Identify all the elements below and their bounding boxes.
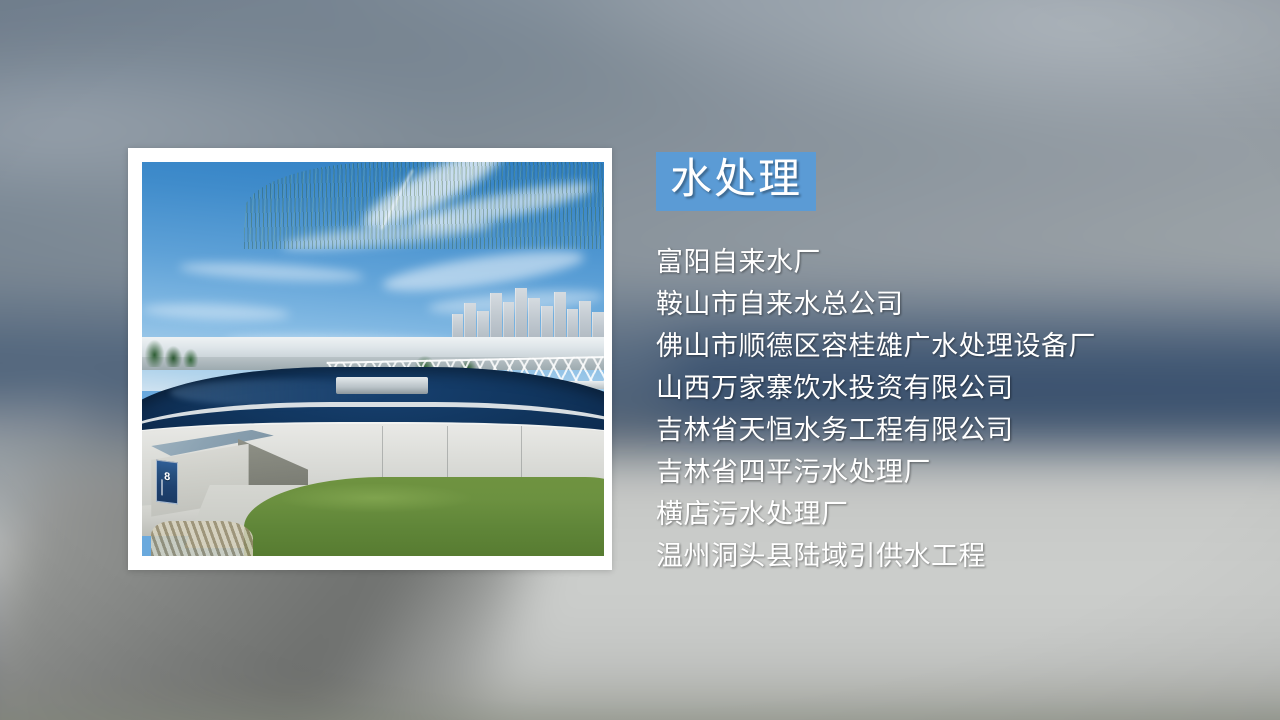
photo-sign-plate: 8 — [156, 460, 178, 505]
photo-grass-highlight — [282, 484, 515, 519]
photo-sign-number: 8 — [157, 471, 177, 485]
photo-treeline-left — [142, 327, 299, 366]
photo-drain-grate — [151, 521, 253, 556]
list-item: 富阳自来水厂 — [656, 241, 1256, 283]
photo-grass — [244, 477, 604, 556]
photo-image: 8 — [142, 162, 604, 556]
photo-basin-platform — [336, 377, 428, 395]
list-item: 佛山市顺德区容桂雄广水处理设备厂 — [656, 325, 1256, 367]
customer-list: 富阳自来水厂 鞍山市自来水总公司 佛山市顺德区容桂雄广水处理设备厂 山西万家寨饮… — [656, 241, 1256, 577]
page-title: 水处理 — [670, 158, 802, 203]
list-item: 吉林省四平污水处理厂 — [656, 451, 1256, 493]
photo-card: 8 — [128, 148, 612, 570]
photo-grass-texture — [244, 162, 604, 249]
list-item: 温州洞头县陆域引供水工程 — [656, 535, 1256, 577]
list-item: 吉林省天恒水务工程有限公司 — [656, 409, 1256, 451]
content-column: 水处理 富阳自来水厂 鞍山市自来水总公司 佛山市顺德区容桂雄广水处理设备厂 山西… — [656, 152, 1256, 577]
list-item: 山西万家寨饮水投资有限公司 — [656, 367, 1256, 409]
photo-sign-subtext — [161, 480, 163, 496]
title-badge: 水处理 — [656, 152, 816, 211]
slide-root: 8 水处理 富阳自来水厂 鞍山市自来水总公司 佛山市顺德区容桂雄广水处理设备厂 … — [0, 0, 1280, 720]
list-item: 鞍山市自来水总公司 — [656, 283, 1256, 325]
list-item: 横店污水处理厂 — [656, 493, 1256, 535]
